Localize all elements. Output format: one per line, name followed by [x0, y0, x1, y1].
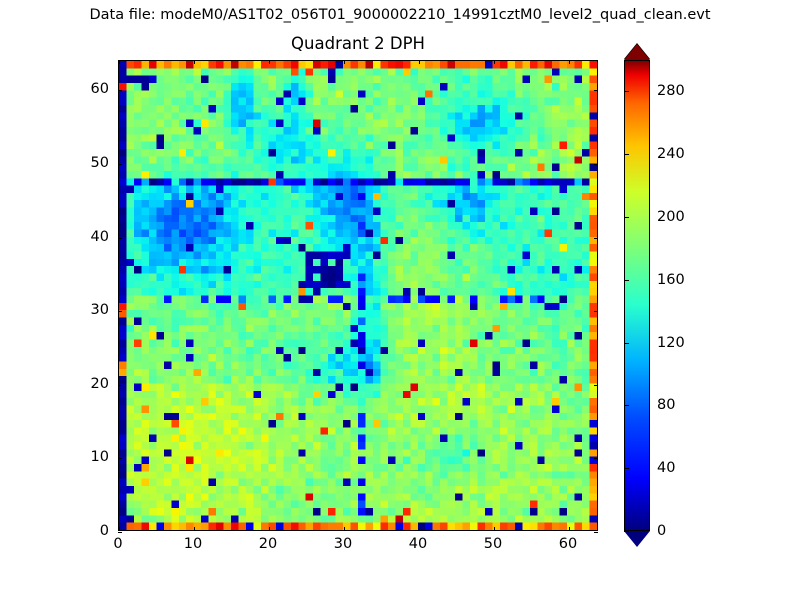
colorbar-over-arrow-icon [624, 44, 650, 60]
colorbar-tick [624, 91, 629, 92]
colorbar-tick [624, 531, 629, 532]
colorbar-ticklabel: 80 [657, 397, 675, 413]
y-ticklabel: 0 [0, 523, 109, 539]
y-ticklabel: 40 [0, 229, 109, 245]
y-ticklabel: 10 [0, 449, 109, 465]
x-tick-top [119, 60, 120, 64]
x-tick [119, 527, 120, 531]
y-ticklabel: 20 [0, 376, 109, 392]
colorbar-tick [624, 468, 629, 469]
heatmap-image[interactable] [119, 61, 597, 530]
colorbar[interactable]: 04080120160200240280 [624, 60, 650, 531]
x-tick [494, 527, 495, 531]
y-ticklabel: 60 [0, 81, 109, 97]
x-tick [569, 527, 570, 531]
colorbar-under-arrow-icon [624, 531, 650, 547]
x-tick [194, 527, 195, 531]
x-ticklabel: 10 [184, 536, 202, 552]
x-ticklabel: 50 [484, 536, 502, 552]
x-tick [269, 527, 270, 531]
y-ticklabel: 30 [0, 302, 109, 318]
x-ticklabel: 60 [559, 536, 577, 552]
y-tick [118, 90, 122, 91]
y-tick-right [594, 458, 598, 459]
x-ticklabel: 30 [334, 536, 352, 552]
y-tick [118, 164, 122, 165]
x-tick [419, 527, 420, 531]
colorbar-tick [624, 343, 629, 344]
x-tick-top [344, 60, 345, 64]
figure-canvas: Data file: modeM0/AS1T02_056T01_90000022… [0, 0, 800, 600]
y-tick-right [594, 532, 598, 533]
y-tick-right [594, 238, 598, 239]
colorbar-ticklabel: 0 [657, 523, 666, 539]
colorbar-ticklabel: 280 [657, 83, 685, 99]
colorbar-ticklabel: 40 [657, 460, 675, 476]
colorbar-ticklabel: 240 [657, 146, 685, 162]
colorbar-tick [624, 280, 629, 281]
colorbar-ticklabel: 200 [657, 209, 685, 225]
y-tick-right [594, 311, 598, 312]
x-tick-top [269, 60, 270, 64]
page-title: Quadrant 2 DPH [118, 34, 598, 53]
data-file-suptitle: Data file: modeM0/AS1T02_056T01_90000022… [0, 7, 800, 23]
colorbar-tick [624, 405, 629, 406]
x-ticklabel: 0 [113, 536, 122, 552]
y-tick [118, 238, 122, 239]
x-ticklabel: 40 [409, 536, 427, 552]
x-ticklabel: 20 [259, 536, 277, 552]
x-tick-top [194, 60, 195, 64]
colorbar-gradient [624, 60, 650, 531]
x-tick [344, 527, 345, 531]
x-tick-top [494, 60, 495, 64]
x-tick-top [569, 60, 570, 64]
y-tick [118, 532, 122, 533]
colorbar-ticklabel: 160 [657, 272, 685, 288]
y-tick-right [594, 385, 598, 386]
colorbar-ticklabel: 120 [657, 335, 685, 351]
y-tick [118, 458, 122, 459]
heatmap-axes[interactable] [118, 60, 598, 531]
y-tick-right [594, 164, 598, 165]
y-tick [118, 385, 122, 386]
x-tick-top [419, 60, 420, 64]
y-tick [118, 311, 122, 312]
colorbar-tick [624, 154, 629, 155]
y-ticklabel: 50 [0, 155, 109, 171]
colorbar-tick [624, 217, 629, 218]
y-tick-right [594, 90, 598, 91]
